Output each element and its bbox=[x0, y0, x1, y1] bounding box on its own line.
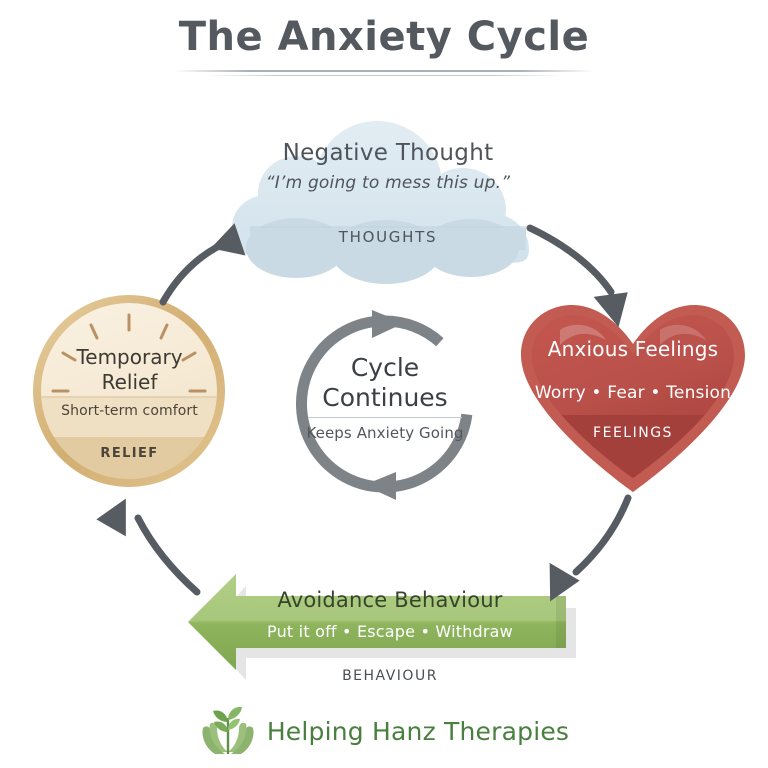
feelings-stage-label: FEELINGS bbox=[520, 425, 746, 441]
connector-feelings-to-behaviour bbox=[576, 498, 628, 572]
behaviour-heading: Avoidance Behaviour bbox=[215, 588, 565, 612]
title-divider-secondary bbox=[206, 75, 562, 76]
thoughts-stage-label: THOUGHTS bbox=[250, 228, 526, 246]
center-heading: Cycle Continues bbox=[300, 353, 470, 413]
footer-brand: Helping Hanz Therapies bbox=[0, 706, 768, 756]
feelings-subtitle: Worry • Fear • Tension bbox=[520, 383, 746, 403]
infographic-canvas: The Anxiety Cycle bbox=[0, 0, 768, 768]
center-heading-line1: Cycle bbox=[300, 353, 470, 383]
relief-stage-label: RELIEF bbox=[38, 446, 221, 461]
thoughts-quote: “I’m going to mess this up.” bbox=[250, 173, 526, 193]
arrowhead-to-thoughts bbox=[206, 223, 246, 265]
thoughts-heading: Negative Thought bbox=[250, 140, 526, 166]
brand-name: Helping Hanz Therapies bbox=[267, 717, 569, 746]
title-block: The Anxiety Cycle bbox=[0, 14, 768, 76]
behaviour-stage-label: BEHAVIOUR bbox=[215, 668, 565, 684]
thoughts-node-text: Negative Thought “I’m going to mess this… bbox=[250, 140, 526, 193]
connector-relief-to-thoughts bbox=[163, 240, 233, 302]
relief-heading-line2: Relief bbox=[38, 370, 221, 395]
behaviour-subtitle: Put it off • Escape • Withdraw bbox=[215, 622, 565, 641]
relief-heading-line1: Temporary bbox=[38, 345, 221, 370]
hands-holding-plant-icon bbox=[199, 706, 257, 756]
arrowhead-to-relief bbox=[95, 499, 142, 545]
connector-thoughts-to-feelings bbox=[530, 228, 611, 292]
center-divider bbox=[308, 417, 462, 418]
relief-subtitle: Short-term comfort bbox=[38, 403, 221, 419]
center-heading-line2: Continues bbox=[300, 383, 470, 413]
relief-heading: Temporary Relief bbox=[38, 345, 221, 395]
center-subtitle: Keeps Anxiety Going bbox=[296, 424, 474, 442]
feelings-heading: Anxious Feelings bbox=[520, 337, 746, 361]
clock-dial-icon bbox=[30, 295, 230, 497]
title-divider bbox=[174, 70, 594, 72]
arrowhead-to-feelings bbox=[587, 283, 630, 327]
page-title: The Anxiety Cycle bbox=[0, 14, 768, 60]
connector-behaviour-to-relief bbox=[138, 518, 197, 592]
